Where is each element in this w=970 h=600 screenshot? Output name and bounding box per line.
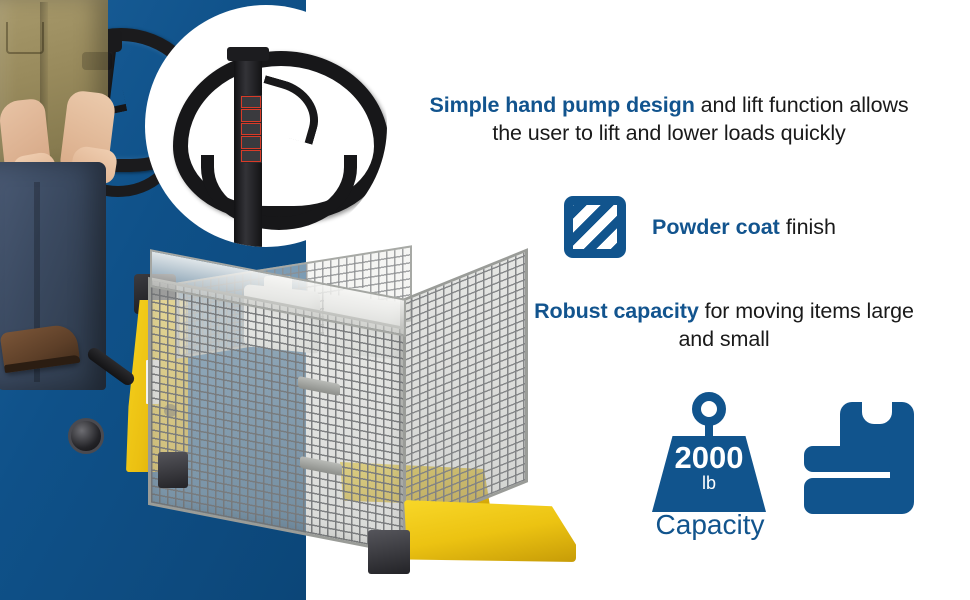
shirt-pocket <box>6 22 44 54</box>
feature-robust-capacity-bold: Robust capacity <box>534 299 699 323</box>
badge-row: 2000 lb Capacity <box>644 392 944 542</box>
decal-panel <box>241 96 261 108</box>
inset-warning-decal <box>240 95 262 163</box>
feature-copy-area: Simple hand pump design and lift functio… <box>306 0 970 600</box>
inset-handle-cap <box>227 47 269 61</box>
capacity-label: Capacity <box>636 510 784 541</box>
operator-photo <box>0 0 126 396</box>
decal-panel <box>241 136 261 148</box>
feature-hand-pump: Simple hand pump design and lift functio… <box>414 92 924 147</box>
feature-powder-coat-bold: Powder coat <box>652 215 780 239</box>
decal-panel <box>241 123 261 135</box>
feature-powder-coat-rest: finish <box>780 215 836 239</box>
jack-icon-lower-fork <box>804 478 890 514</box>
jack-icon-upper-fork <box>804 446 890 472</box>
weight-icon: 2000 lb Capacity <box>644 392 776 540</box>
caster-wheel <box>68 418 104 454</box>
feature-robust-capacity: Robust capacity for moving items large a… <box>534 298 914 353</box>
pallet-jack-icon <box>804 402 914 514</box>
decal-panel <box>241 150 261 162</box>
feature-powder-coat-label: Powder coat finish <box>652 215 836 240</box>
product-feature-banner: Simple hand pump design and lift functio… <box>0 0 970 600</box>
decal-panel <box>241 109 261 121</box>
feature-powder-coat: Powder coat finish <box>564 196 964 258</box>
feature-robust-capacity-rest: for moving items large and small <box>678 299 913 351</box>
hatch-fill <box>573 205 617 249</box>
feature-hand-pump-bold: Simple hand pump design <box>429 93 694 117</box>
capacity-unit: lb <box>652 474 766 492</box>
hatched-square-icon <box>564 196 626 258</box>
jack-icon-notch <box>862 400 892 424</box>
shirt-sleeve <box>82 52 112 70</box>
capacity-value: 2000 <box>652 442 766 473</box>
cage-foot-left <box>158 452 188 488</box>
